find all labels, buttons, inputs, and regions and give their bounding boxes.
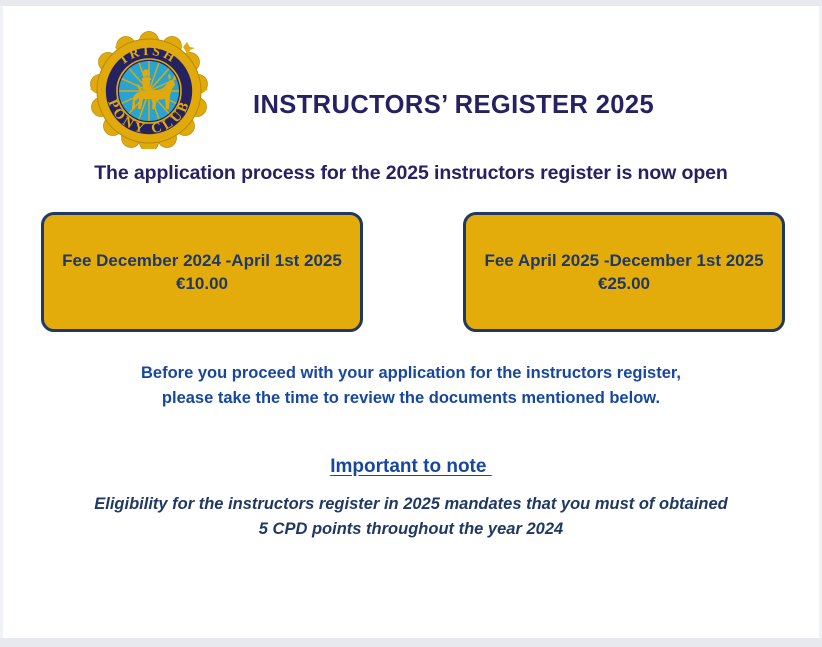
- fee-amount-label: €25.00: [598, 272, 650, 295]
- fee-period-label: Fee December 2024 -April 1st 2025: [62, 249, 342, 272]
- page-title: INSTRUCTORS’ REGISTER 2025: [253, 91, 654, 120]
- document-page: IRISH PONY CLUB INSTRUCTORS’ REGISTER 20…: [3, 6, 819, 638]
- eligibility-statement: Eligibility for the instructors register…: [3, 492, 819, 542]
- review-notice-line-2: please take the time to review the docum…: [3, 386, 819, 411]
- fee-period-label: Fee April 2025 -December 1st 2025: [484, 249, 763, 272]
- review-notice: Before you proceed with your application…: [3, 361, 819, 411]
- fee-box-late[interactable]: Fee April 2025 -December 1st 2025 €25.00: [463, 212, 785, 332]
- fee-boxes-row: Fee December 2024 -April 1st 2025 €10.00…: [3, 212, 819, 338]
- bottom-edge-band: [0, 638, 822, 647]
- important-to-note-label: Important to note: [330, 456, 491, 477]
- important-to-note-heading: Important to note: [3, 456, 819, 478]
- subtitle-text: The application process for the 2025 ins…: [3, 162, 819, 185]
- fee-amount-label: €10.00: [176, 272, 228, 295]
- page-header: IRISH PONY CLUB INSTRUCTORS’ REGISTER 20…: [3, 18, 819, 153]
- eligibility-line-2: 5 CPD points throughout the year 2024: [3, 517, 819, 542]
- review-notice-line-1: Before you proceed with your application…: [3, 361, 819, 386]
- irish-pony-club-logo: IRISH PONY CLUB: [85, 31, 213, 149]
- fee-box-early[interactable]: Fee December 2024 -April 1st 2025 €10.00: [41, 212, 363, 332]
- eligibility-line-1: Eligibility for the instructors register…: [3, 492, 819, 517]
